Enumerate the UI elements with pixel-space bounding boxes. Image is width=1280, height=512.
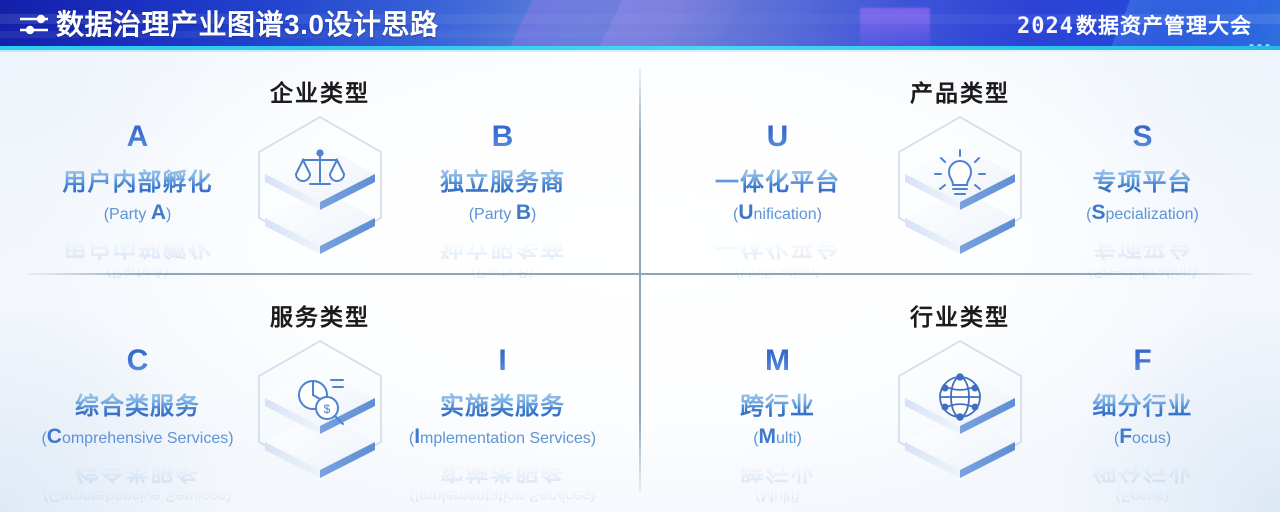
reflection-cn: 独立服务商 [395, 232, 610, 267]
quadrant-title: 行业类型 [640, 298, 1280, 332]
category-card-b[interactable]: B 独立服务商 (Party B) 独立服务商 (Party B) [395, 110, 610, 225]
category-label-en: (Comprehensive Services) [30, 427, 245, 449]
horizontal-divider [28, 273, 1252, 275]
category-card-s[interactable]: S 专项平台 (Specialization) 专项平台 (Specializa… [1035, 110, 1250, 225]
diagram-canvas: 企业类型 A 用户内部孵化 (Party A) 用户内部孵化 (Party A) [0, 52, 1280, 512]
event-branding: 2024 数据资产管理大会 [1017, 10, 1252, 40]
category-label-cn: 专项平台 [1035, 168, 1250, 198]
header-streak-decor [593, 0, 747, 50]
quadrant-title: 企业类型 [0, 74, 640, 108]
category-label-cn: 一体化平台 [670, 168, 885, 198]
category-letter: C [30, 344, 245, 378]
category-card-u[interactable]: U 一体化平台 (Unification) 一体化平台 (Unification… [670, 110, 885, 225]
quadrant-row: M 跨行业 (Multi) 跨行业 (Multi) [640, 334, 1280, 484]
quadrant-enterprise-type: 企业类型 A 用户内部孵化 (Party A) 用户内部孵化 (Party A) [0, 52, 640, 272]
category-label-en: (Party B) [395, 203, 610, 225]
category-letter: B [395, 120, 610, 154]
quadrant-row: A 用户内部孵化 (Party A) 用户内部孵化 (Party A) [0, 110, 640, 260]
category-label-cn: 细分行业 [1035, 392, 1250, 422]
reflection-en: (Multi) [670, 486, 885, 504]
category-label-cn: 独立服务商 [395, 168, 610, 198]
category-label-en: (Focus) [1035, 427, 1250, 449]
category-card-i[interactable]: I 实施类服务 (Implementation Services) 实施类服务 … [395, 334, 610, 449]
svg-text:$: $ [324, 402, 331, 416]
category-letter: U [670, 120, 885, 154]
quadrant-row: C 综合类服务 (Comprehensive Services) 综合类服务 (… [0, 334, 640, 484]
scales-balance-icon [245, 110, 395, 254]
reflection-cn: 专项平台 [1035, 232, 1250, 267]
reflection-en: (Comprehensive Services) [30, 486, 245, 504]
pie-chart-magnifier-icon: $ [245, 334, 395, 478]
category-card-c[interactable]: C 综合类服务 (Comprehensive Services) 综合类服务 (… [30, 334, 245, 449]
category-card-m[interactable]: M 跨行业 (Multi) 跨行业 (Multi) [670, 334, 885, 449]
reflection-cn: 一体化平台 [670, 232, 885, 267]
page-title: 数据治理产业图谱3.0设计思路 [56, 7, 438, 43]
category-card-a[interactable]: A 用户内部孵化 (Party A) 用户内部孵化 (Party A) [30, 110, 245, 225]
category-letter: S [1035, 120, 1250, 154]
quadrant-industry-type: 行业类型 M 跨行业 (Multi) 跨行业 (Multi) [640, 276, 1280, 496]
quadrant-title: 服务类型 [0, 298, 640, 332]
category-label-en: (Implementation Services) [395, 427, 610, 449]
quadrant-service-type: 服务类型 C 综合类服务 (Comprehensive Services) 综合… [0, 276, 640, 496]
category-label-cn: 跨行业 [670, 392, 885, 422]
category-letter: M [670, 344, 885, 378]
sliders-icon [18, 12, 52, 38]
reflection-cn: 用户内部孵化 [30, 232, 245, 267]
category-label-en: (Party A) [30, 203, 245, 225]
quadrant-row: U 一体化平台 (Unification) 一体化平台 (Unification… [640, 110, 1280, 260]
category-letter: A [30, 120, 245, 154]
header-glow-decor [860, 8, 930, 50]
header-streak-decor [500, 0, 699, 50]
reflection-cn: 实施类服务 [395, 456, 610, 491]
globe-network-icon [885, 334, 1035, 478]
reflection-cn: 综合类服务 [30, 456, 245, 491]
category-label-cn: 综合类服务 [30, 392, 245, 422]
quadrant-title: 产品类型 [640, 74, 1280, 108]
event-year: 2024 [1017, 14, 1074, 39]
category-card-f[interactable]: F 细分行业 (Focus) 细分行业 (Focus) [1035, 334, 1250, 449]
lightbulb-icon [885, 110, 1035, 254]
reflection-en: (Implementation Services) [395, 486, 610, 504]
category-letter: F [1035, 344, 1250, 378]
reflection-cn: 跨行业 [670, 456, 885, 491]
reflection-en: (Focus) [1035, 486, 1250, 504]
category-label-cn: 用户内部孵化 [30, 168, 245, 198]
quadrant-product-type: 产品类型 U 一体化平台 (Unification) 一体化平台 (Unific… [640, 52, 1280, 272]
category-label-en: (Multi) [670, 427, 885, 449]
category-label-cn: 实施类服务 [395, 392, 610, 422]
reflection-cn: 细分行业 [1035, 456, 1250, 491]
category-label-en: (Unification) [670, 203, 885, 225]
event-name: 数据资产管理大会 [1076, 10, 1252, 40]
category-letter: I [395, 344, 610, 378]
category-label-en: (Specialization) [1035, 203, 1250, 225]
page-header: 数据治理产业图谱3.0设计思路 2024 数据资产管理大会 [0, 0, 1280, 50]
